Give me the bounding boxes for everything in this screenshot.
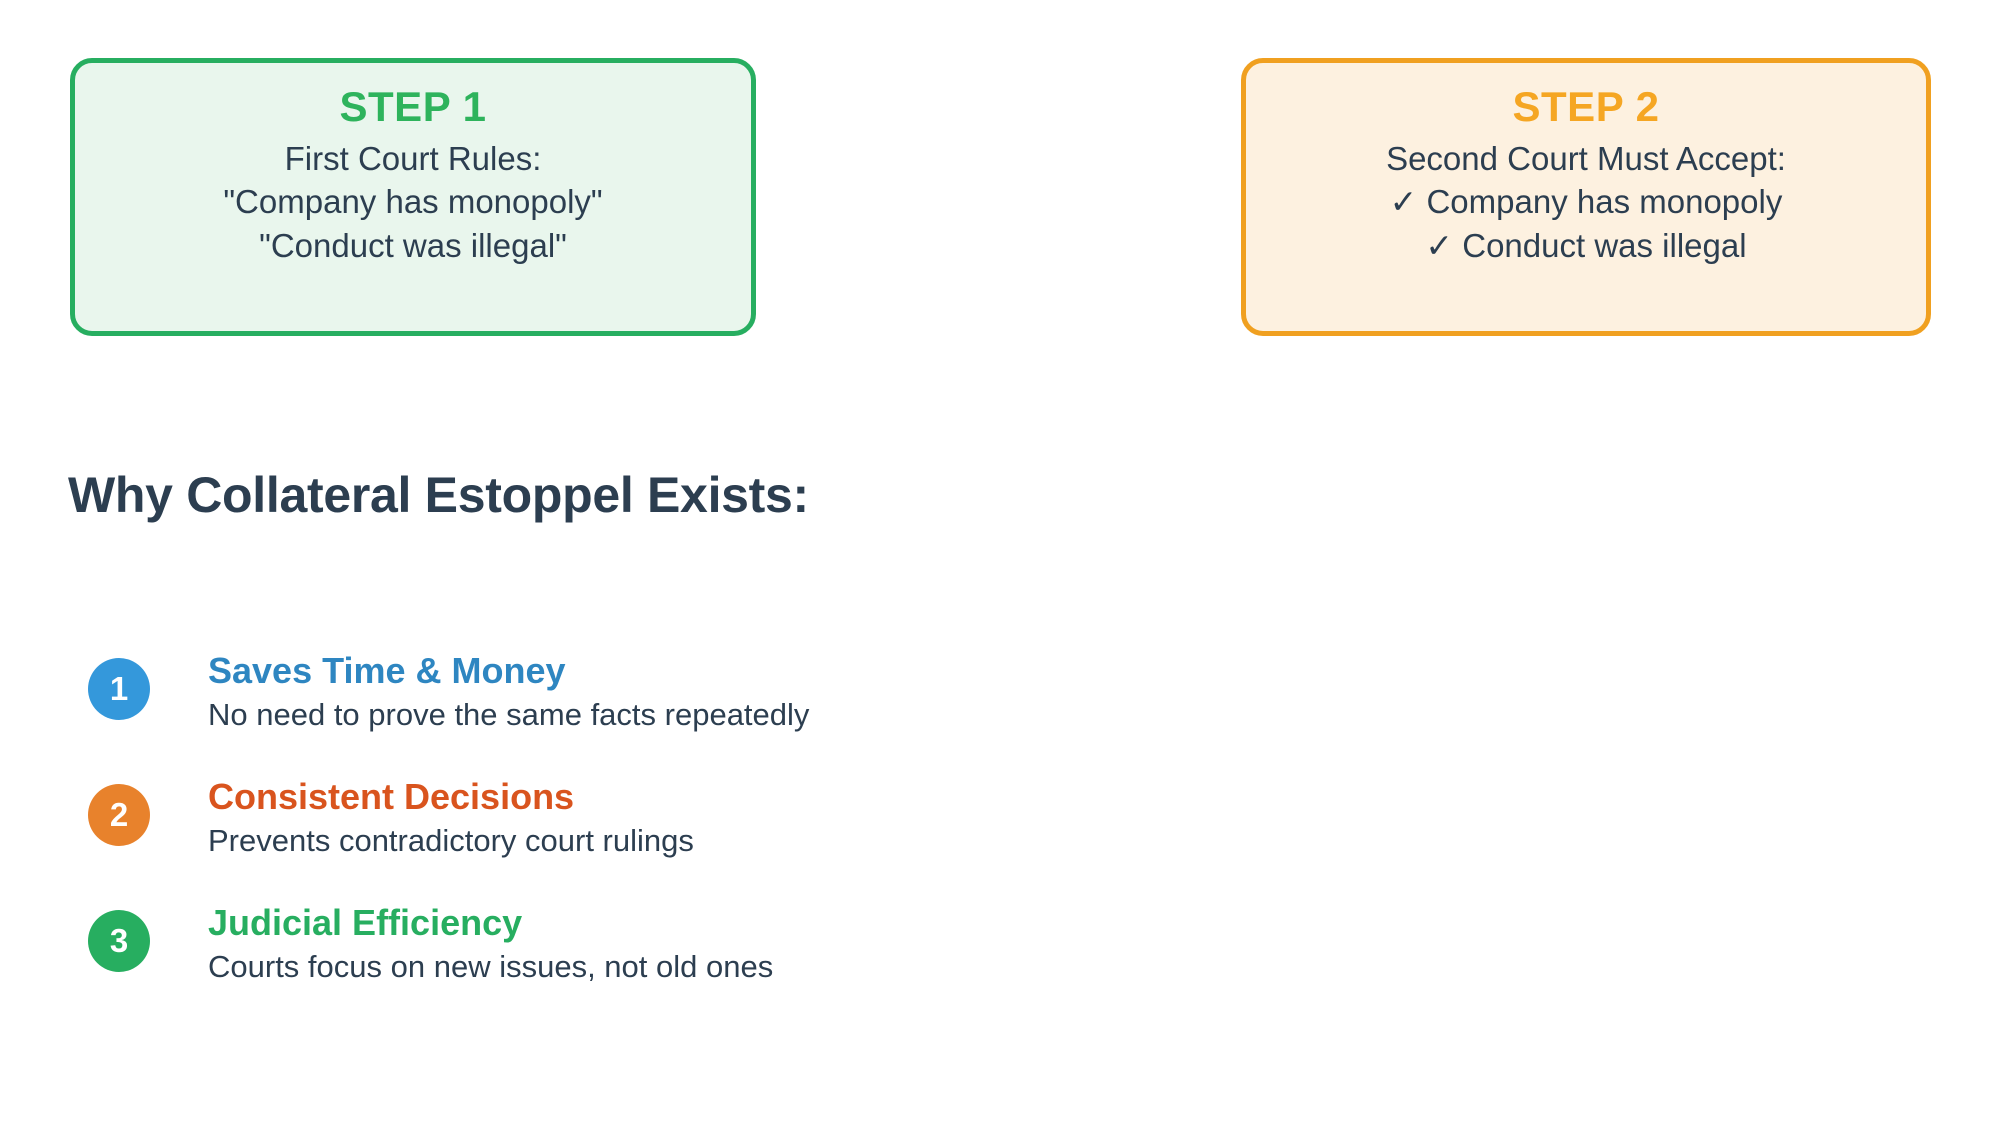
step-1-line-2: "Conduct was illegal" — [75, 226, 751, 266]
step-2-subtitle: Second Court Must Accept: — [1246, 139, 1926, 179]
benefit-description: No need to prove the same facts repeated… — [208, 696, 1288, 735]
benefit-title: Consistent Decisions — [208, 776, 1288, 818]
step-1-subtitle: First Court Rules: — [75, 139, 751, 179]
section-heading: Why Collateral Estoppel Exists: — [68, 466, 809, 524]
step-box-1: STEP 1 First Court Rules: "Company has m… — [70, 58, 756, 336]
benefit-title: Judicial Efficiency — [208, 902, 1288, 944]
benefit-description: Prevents contradictory court rulings — [208, 822, 1288, 861]
list-item: 2 Consistent Decisions Prevents contradi… — [88, 776, 1288, 902]
step-2-checked-item-1: ✓ Company has monopoly — [1246, 182, 1926, 222]
benefit-description: Courts focus on new issues, not old ones — [208, 948, 1288, 987]
step-1-line-1: "Company has monopoly" — [75, 182, 751, 222]
list-item: 3 Judicial Efficiency Courts focus on ne… — [88, 902, 1288, 1028]
step-1-title: STEP 1 — [75, 85, 751, 129]
step-box-2: STEP 2 Second Court Must Accept: ✓ Compa… — [1241, 58, 1931, 336]
benefit-number-badge: 3 — [88, 910, 150, 972]
step-2-checked-item-2: ✓ Conduct was illegal — [1246, 226, 1926, 266]
benefits-list: 1 Saves Time & Money No need to prove th… — [88, 650, 1288, 1028]
step-boxes-row: STEP 1 First Court Rules: "Company has m… — [0, 58, 2000, 338]
step-2-title: STEP 2 — [1246, 85, 1926, 129]
benefit-number-badge: 1 — [88, 658, 150, 720]
benefit-number-badge: 2 — [88, 784, 150, 846]
list-item: 1 Saves Time & Money No need to prove th… — [88, 650, 1288, 776]
benefit-title: Saves Time & Money — [208, 650, 1288, 692]
